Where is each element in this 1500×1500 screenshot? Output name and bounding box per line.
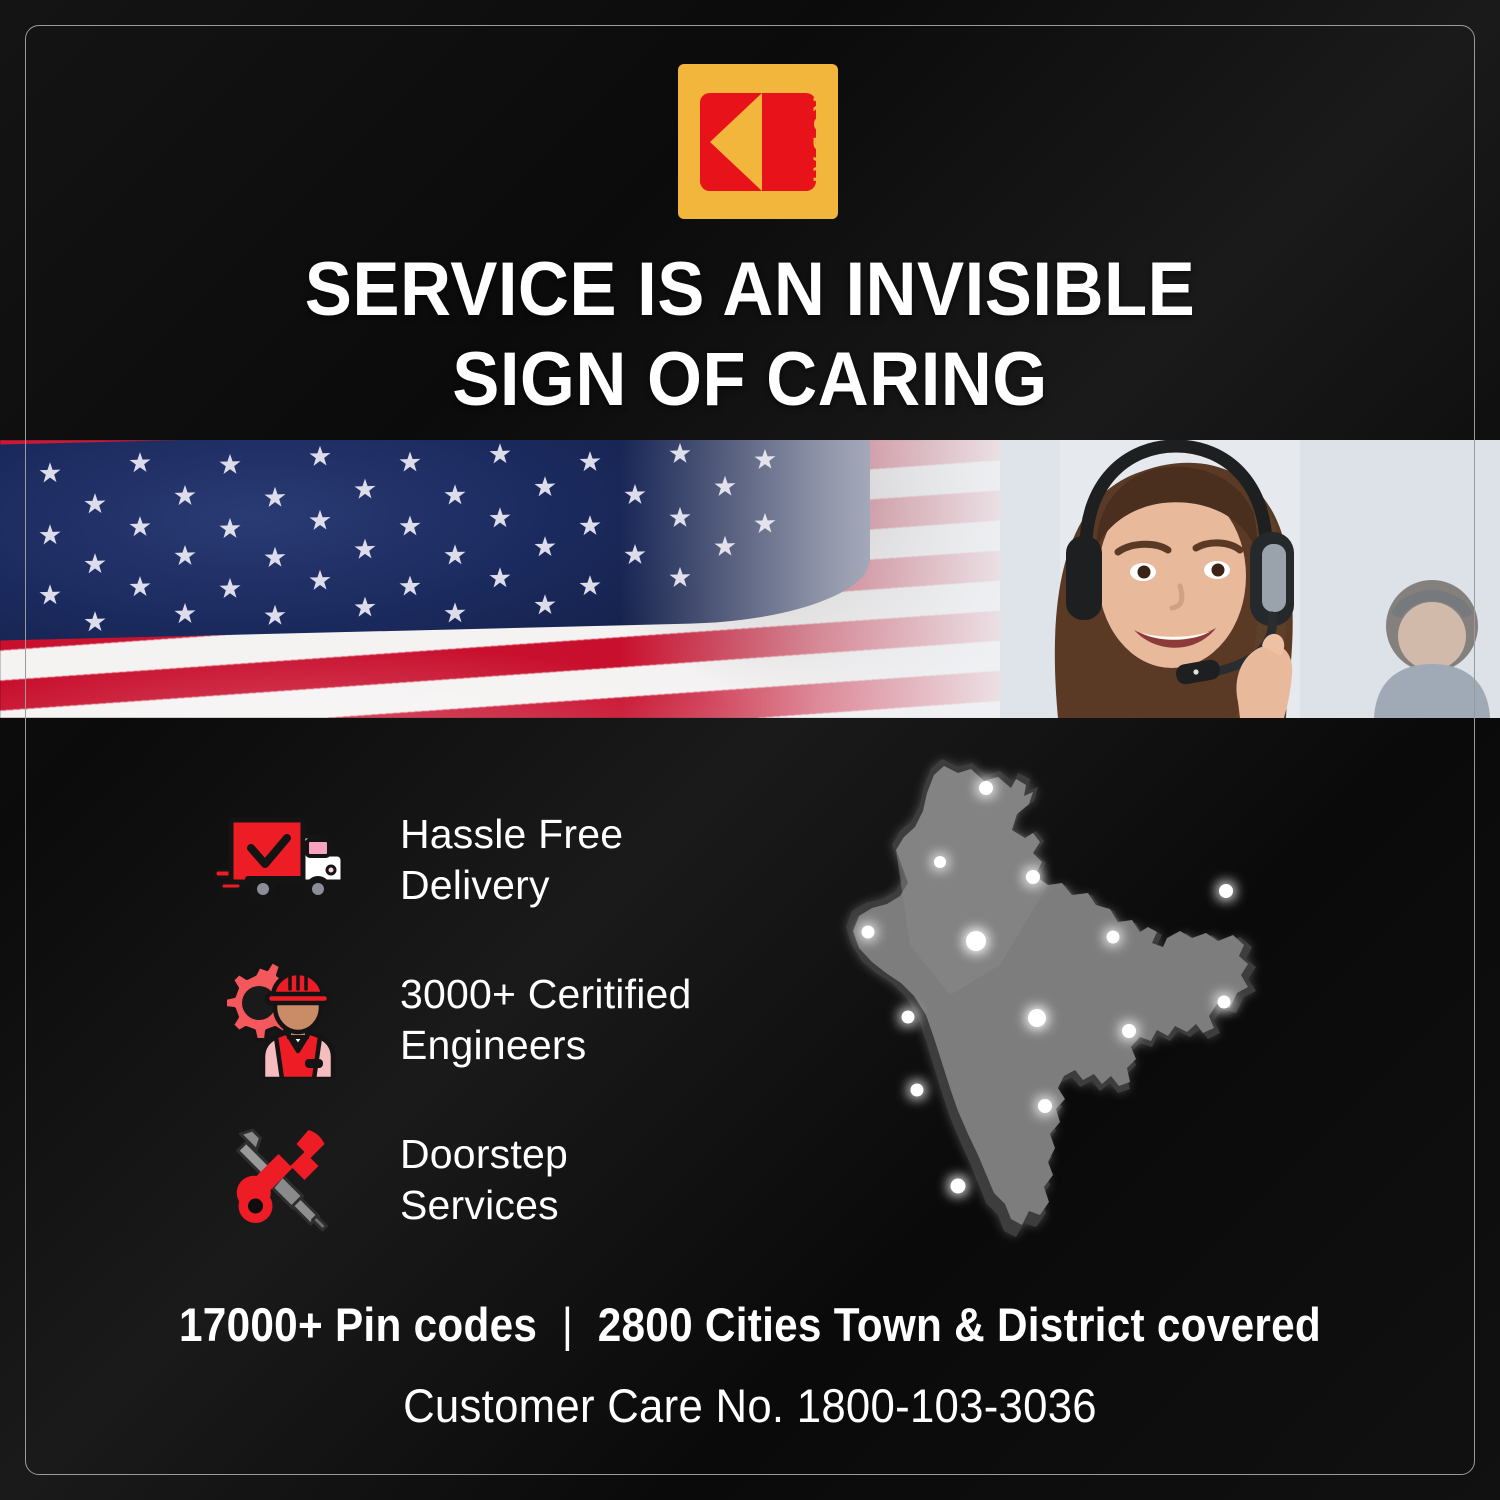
kodak-wordmark: K O D A K: [809, 94, 831, 190]
wrench-screwdriver-icon: [215, 1124, 350, 1236]
kodak-letter: A: [810, 156, 830, 171]
india-coverage-map: [800, 745, 1300, 1285]
kodak-letter: K: [810, 176, 830, 191]
india-map-icon: [800, 745, 1300, 1285]
headline-line-2: SIGN OF CARING: [53, 335, 1448, 425]
stat-separator: |: [549, 1296, 585, 1354]
hero-banner: [0, 440, 1500, 718]
engineer-gear-glyph: [215, 961, 350, 1079]
feature-item-hassle-free-delivery: Hassle Free Delivery: [215, 780, 735, 940]
stat-cities: 2800 Cities Town & District covered: [598, 1298, 1321, 1351]
feature-item-certified-engineers: 3000+ Ceritified Engineers: [215, 940, 735, 1100]
logo-background: K O D A K: [678, 64, 838, 219]
tools-glyph: [215, 1124, 350, 1236]
feature-list: Hassle Free Delivery: [215, 780, 735, 1260]
coverage-stats: 17000+ Pin codes | 2800 Cities Town & Di…: [75, 1296, 1425, 1354]
stat-pincodes: 17000+ Pin codes: [179, 1298, 537, 1351]
feature-label: Doorstep Services: [400, 1129, 568, 1231]
us-flag-image: [0, 440, 1120, 718]
headline: SERVICE IS AN INVISIBLE SIGN OF CARING: [53, 245, 1448, 425]
delivery-truck-glyph: [215, 810, 350, 910]
kodak-letter: K: [810, 96, 830, 111]
kodak-k-mark-icon: [700, 93, 816, 191]
kodak-logo: K O D A K: [678, 64, 838, 219]
kodak-letter: O: [810, 116, 830, 132]
feature-item-doorstep-services: Doorstep Services: [215, 1100, 735, 1260]
agent-illustration-icon: [1000, 440, 1500, 718]
delivery-truck-icon: [215, 810, 350, 910]
headline-line-1: SERVICE IS AN INVISIBLE: [305, 247, 1195, 332]
feature-label: Hassle Free Delivery: [400, 809, 623, 911]
call-center-agent-photo: [1000, 440, 1500, 718]
certified-engineer-icon: [215, 961, 350, 1079]
customer-care-number: Customer Care No. 1800-103-3036: [53, 1378, 1448, 1434]
footer: 17000+ Pin codes | 2800 Cities Town & Di…: [0, 1296, 1500, 1434]
kodak-letter: D: [810, 136, 830, 151]
poster-canvas: K O D A K SERVICE IS AN INVISIBLE SIGN O…: [0, 0, 1500, 1500]
feature-label: 3000+ Ceritified Engineers: [400, 969, 692, 1071]
